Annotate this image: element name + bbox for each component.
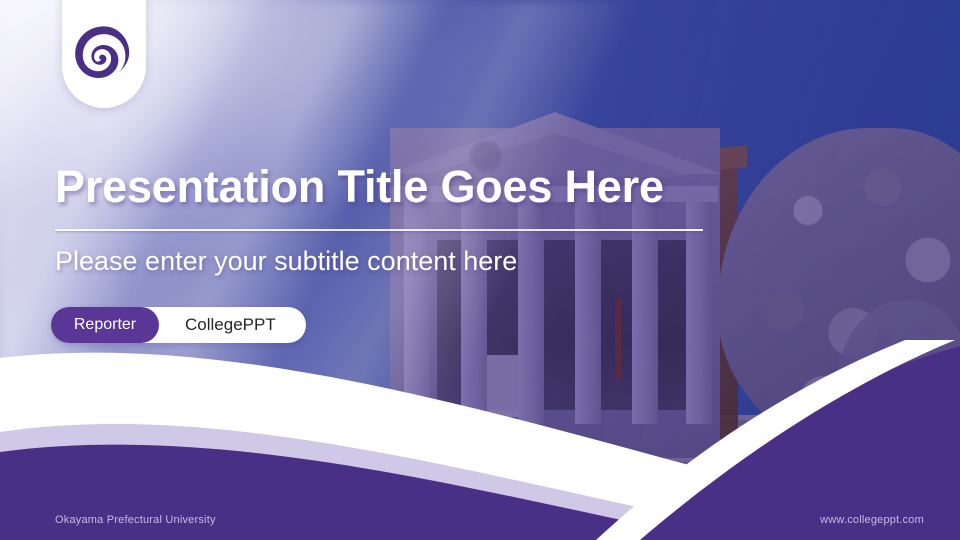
footer-organization: Okayama Prefectural University xyxy=(55,514,216,526)
title-divider xyxy=(55,229,703,231)
logo-tab xyxy=(62,0,146,108)
spiral-swirl-logo-icon xyxy=(74,24,134,84)
page-title: Presentation Title Goes Here xyxy=(55,162,755,212)
bottom-wave-decoration xyxy=(0,340,960,540)
footer-website[interactable]: www.collegeppt.com xyxy=(820,514,924,526)
presentation-slide: Presentation Title Goes Here Please ente… xyxy=(0,0,960,540)
reporter-pill[interactable]: Reporter CollegePPT xyxy=(51,307,306,343)
page-subtitle: Please enter your subtitle content here xyxy=(55,246,517,277)
reporter-label: Reporter xyxy=(51,307,159,343)
reporter-value: CollegePPT xyxy=(159,315,286,335)
